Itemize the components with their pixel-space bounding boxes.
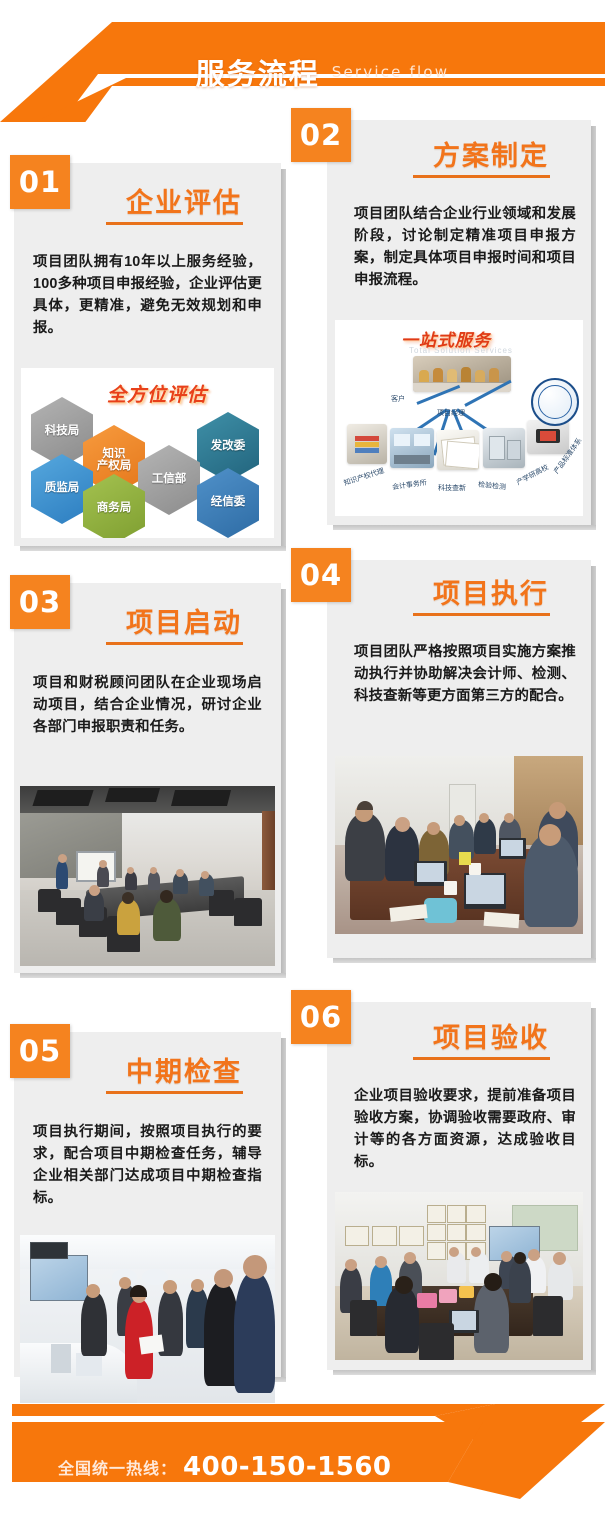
media-photo-team-working-laptops [335,756,583,934]
card-shadow [20,973,286,978]
card-02[interactable]: 02 方案制定 项目团队结合企业行业领域和发展阶段，讨论制定精准项目申报方案，制… [327,120,591,525]
hex-node-5: 经信委 [197,468,259,538]
card-body-04: 项目团队严格按照项目实施方案推动执行并协助解决会计师、检测、科技查新等更方面第三… [354,642,576,708]
card-grid: 01 企业评估 项目团队拥有10年以上服务经验，100多种项目申报经验，企业评估… [0,0,605,1538]
card-title-03: 项目启动 [94,601,274,640]
oss-node-0 [347,424,387,464]
card-shadow [333,958,596,963]
hexagon-chart-title: 全方位评估 [107,380,207,407]
card-shadow [281,1038,286,1377]
one-stop-diagram: 一站式服务 Total Solution Services [335,320,583,516]
title-underline [413,1057,550,1060]
footer-banner-shape [0,1404,605,1514]
oss-bottom-label-2: 科技查新 [438,483,466,493]
title-underline [413,175,550,178]
media-photo-conference-room-kickoff [20,786,275,966]
card-shadow [281,169,286,546]
title-underline [106,222,243,225]
card-shadow [591,126,596,525]
media-one-stop-service-diagram: 一站式服务 Total Solution Services [335,320,583,516]
oss-bottom-label-1: 会计事务所 [391,478,427,493]
card-shadow [591,566,596,958]
card-shadow [281,589,286,973]
title-underline [106,1091,243,1094]
hex-label: 商务局 [97,502,132,515]
card-number-badge-02: 02 [291,108,351,162]
card-shadow [333,525,596,530]
card-number-badge-04: 04 [291,548,351,602]
card-title-05: 中期检查 [94,1050,274,1089]
title-underline [413,613,550,616]
card-04[interactable]: 04 项目执行 项目团队严格按照项目实施方案推动执行并协助解决会计师、检测、科技… [327,560,591,958]
service-flow-poster: 服务流程 Service flow 01 企业评估 项目团队拥有10年以上服务经… [0,0,605,1538]
oss-certificate-seal [531,378,579,426]
hex-label: 知识 产权局 [97,448,132,472]
one-stop-subtitle: Total Solution Services [409,346,513,355]
oss-center-label: 项目经理 [437,408,465,418]
oss-node-2 [437,430,479,470]
card-05[interactable]: 05 中期检查 项目执行期间，按照项目执行的要求，配合项目中期检查任务，辅导企业… [14,1032,281,1377]
hex-label: 质监局 [45,482,80,495]
card-number-badge-03: 03 [10,575,70,629]
oss-bottom-label-0: 知识产权代理 [342,466,385,488]
card-number-badge-05: 05 [10,1024,70,1078]
card-title-02: 方案制定 [401,134,581,173]
photo-scene [335,756,583,934]
card-title-01: 企业评估 [94,181,274,220]
card-number-badge-06: 06 [291,990,351,1044]
photo-scene [20,1235,275,1403]
card-body-02: 项目团队结合企业行业领域和发展阶段，讨论制定精准项目申报方案，制定具体项目申报时… [354,204,576,292]
media-photo-acceptance-meeting [335,1192,583,1360]
photo-scene [20,786,275,966]
card-body-06: 企业项目验收要求，提前准备项目验收方案，协调验收需要政府、审计等的各方面资源，达… [354,1086,576,1174]
media-photo-site-visit-showroom [20,1235,275,1403]
hexagon-diagram: 全方位评估 科技局 知识 产权局 发改委 质监局 工信部 [21,368,274,538]
card-number-badge-01: 01 [10,155,70,209]
oss-bottom-label-3: 检验检测 [478,480,507,493]
card-shadow [591,1008,596,1370]
card-01[interactable]: 01 企业评估 项目团队拥有10年以上服务经验，100多种项目申报经验，企业评估… [14,163,281,546]
oss-node-1 [390,428,434,468]
card-shadow [333,1370,596,1375]
card-body-05: 项目执行期间，按照项目执行的要求，配合项目中期检查任务，辅导企业相关部门达成项目… [33,1122,262,1210]
oss-client-label: 客户 [391,394,405,404]
media-hexagon-assessment-chart: 全方位评估 科技局 知识 产权局 发改委 质监局 工信部 [21,368,274,538]
card-body-03: 项目和财税顾问团队在企业现场启动项目，结合企业情况，研讨企业各部门申报职责和任务… [33,673,262,739]
photo-scene [335,1192,583,1360]
hex-label: 工信部 [152,473,187,486]
card-shadow [20,546,286,551]
title-underline [106,642,243,645]
hex-label: 科技局 [45,425,80,438]
card-06[interactable]: 06 项目验收 企业项目验收要求，提前准备项目验收方案，协调验收需要政府、审计等… [327,1002,591,1370]
card-title-06: 项目验收 [401,1016,581,1055]
hex-label: 发改委 [211,440,246,453]
card-03[interactable]: 03 项目启动 项目和财税顾问团队在企业现场启动项目，结合企业情况，研讨企业各部… [14,583,281,973]
card-title-04: 项目执行 [401,572,581,611]
oss-node-3 [483,428,525,468]
hex-node-4: 工信部 [138,445,200,515]
footer-banner [0,1404,605,1514]
hex-label: 经信委 [211,496,246,509]
card-body-01: 项目团队拥有10年以上服务经验，100多种项目申报经验，企业评估更具体，更精准，… [33,252,262,340]
